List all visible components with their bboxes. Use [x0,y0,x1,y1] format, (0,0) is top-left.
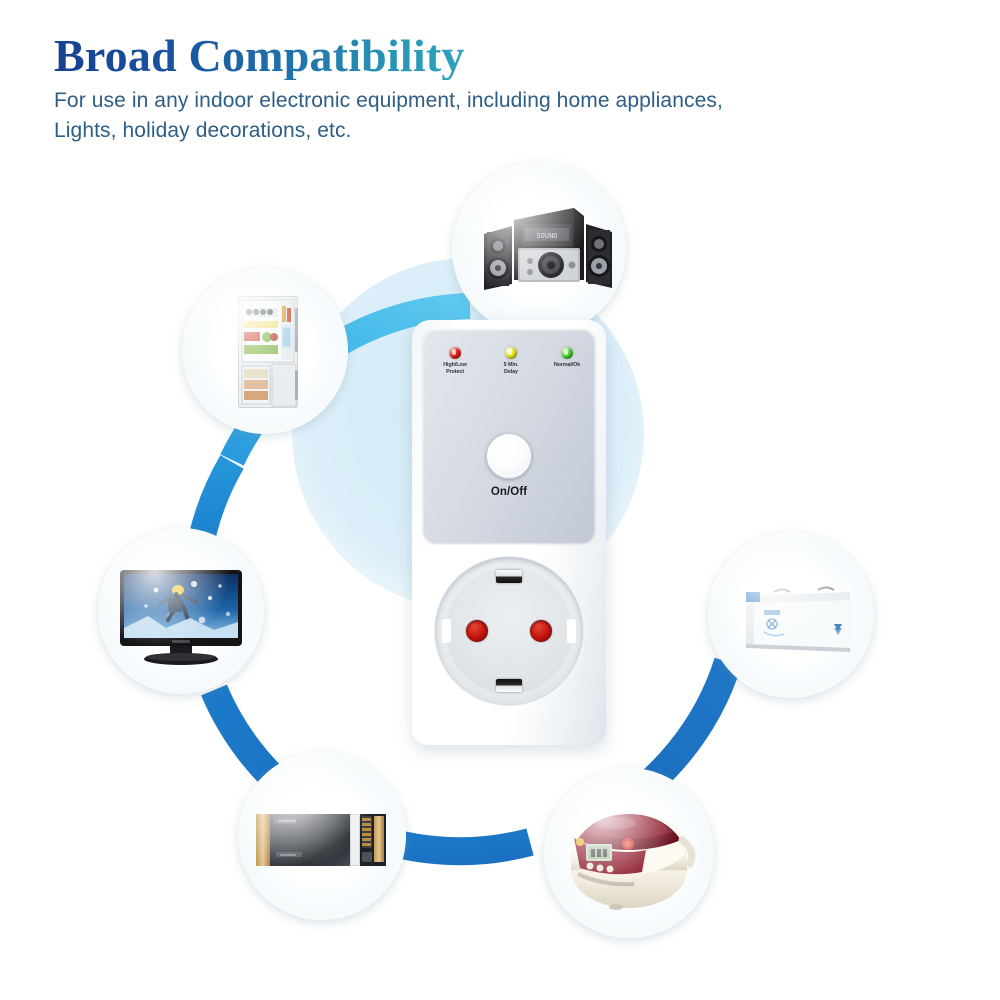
socket-face [446,568,572,694]
led-indicator-row: High/Low Protect 5 Min. Delay Normal/Ok [437,347,587,376]
refrigerator-icon [182,268,348,434]
page-subtitle: For use in any indoor electronic equipme… [54,86,934,146]
refrigerator-bubble[interactable] [182,268,348,434]
subtitle-line-1: For use in any indoor electronic equipme… [54,89,723,112]
device-control-panel: High/Low Protect 5 Min. Delay Normal/Ok [423,329,595,543]
rice-cooker-bubble[interactable] [544,768,714,938]
rice-cooker-icon [544,768,714,938]
earth-clip-bottom-icon [496,679,522,692]
led-normal-ok: Normal/Ok [549,347,585,376]
voltage-protector-socket[interactable]: High/Low Protect 5 Min. Delay Normal/Ok [412,320,606,745]
socket-notch-right [567,619,576,643]
page-title: Broad Compatibility [54,32,465,80]
led-label-normal-1: Normal/Ok [549,362,585,369]
led-label-delay-2: Delay [493,369,529,376]
subtitle-line-2: Lights, holiday decorations, etc. [54,116,934,146]
television-bubble[interactable] [98,528,264,694]
speakers-bubble[interactable]: SOUND [452,162,626,336]
compatibility-diagram: SOUND [0,150,1000,1000]
on-off-button[interactable] [486,433,532,479]
led-yellow-dot [505,347,517,359]
led-five-min-delay: 5 Min. Delay [493,347,529,376]
chest-freezer-icon [708,532,874,698]
led-label-delay-1: 5 Min. [493,362,529,369]
chest-freezer-bubble[interactable] [708,532,874,698]
television-icon [98,528,264,694]
led-green-dot [561,347,573,359]
socket-notch-left [442,619,451,643]
schuko-socket[interactable] [434,556,584,706]
on-off-button-label: On/Off [423,486,595,498]
led-label-high-low-1: High/Low [437,362,473,369]
svg-text:SOUND: SOUND [536,232,557,240]
led-high-low-protect: High/Low Protect [437,347,473,376]
led-red-dot [449,347,461,359]
socket-pin-right [530,620,552,642]
earth-clip-top-icon [496,570,522,583]
infographic-canvas: Broad Compatibility For use in any indoo… [0,0,1000,1000]
socket-pin-left [466,620,488,642]
microwave-bubble[interactable] [238,752,406,920]
speaker-system-icon: SOUND [452,162,626,336]
microwave-oven-icon [238,752,406,920]
led-label-high-low-2: Protect [437,369,473,376]
header: Broad Compatibility For use in any indoo… [54,32,954,146]
